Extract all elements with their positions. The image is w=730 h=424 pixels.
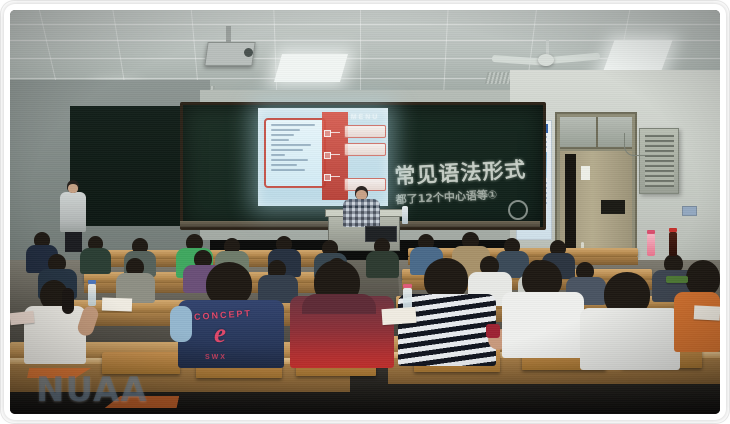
- cola-bottle: [669, 232, 677, 256]
- lecturer-plaid-shirt: [343, 199, 380, 227]
- door-number-plate: [601, 200, 625, 214]
- wall-socket: [682, 206, 697, 216]
- slide-connector: [330, 176, 340, 177]
- jacket-sub-text: SWX: [205, 354, 227, 361]
- electrical-box: [639, 128, 679, 194]
- slide-document-panel: [264, 118, 326, 188]
- standing-person-legs: [65, 230, 82, 252]
- standing-person-face: [68, 184, 78, 193]
- slide-menu-item-2: [344, 143, 386, 156]
- jacket-shoulder-patch: [170, 306, 192, 342]
- slide-menu-title: MENU: [344, 114, 386, 121]
- jacket-logo-letter: e: [214, 318, 226, 349]
- electrical-box-grille: [645, 135, 674, 187]
- ponytail: [62, 288, 74, 314]
- chalk-circle-mark: [508, 200, 528, 220]
- notebook-paper-1: [381, 307, 416, 325]
- green-pencil-case: [666, 276, 688, 283]
- notebook-paper-4: [10, 311, 35, 325]
- photo-frame: 常见语法形式 都了12个中心语等①: [0, 0, 730, 424]
- wristband: [486, 324, 500, 338]
- door-transom-window: [560, 117, 632, 149]
- standing-person-jacket: [60, 192, 86, 232]
- fluorescent-light-panel-left: [274, 54, 348, 82]
- electrical-wires: [624, 133, 645, 156]
- projector-lens: [244, 48, 253, 57]
- bench-seat-1: [102, 352, 180, 374]
- ceiling-fan-hub: [538, 54, 554, 66]
- projection-screen: MENU: [258, 108, 388, 206]
- hoodie-hood: [302, 294, 376, 314]
- pink-bottle: [647, 234, 655, 256]
- notebook-paper-3: [102, 297, 132, 311]
- water-bottle-on-podium: [402, 206, 408, 224]
- water-bottle-desk-2: [88, 284, 96, 306]
- blackboard-left-section: [70, 106, 190, 226]
- notebook-paper-2: [694, 305, 720, 320]
- classroom-photograph: 常见语法形式 都了12个中心语等①: [10, 10, 720, 414]
- door-sign: [581, 166, 590, 180]
- slide-connector: [330, 154, 340, 155]
- slide-connector: [330, 132, 340, 133]
- slide-menu-item-1: [344, 125, 386, 138]
